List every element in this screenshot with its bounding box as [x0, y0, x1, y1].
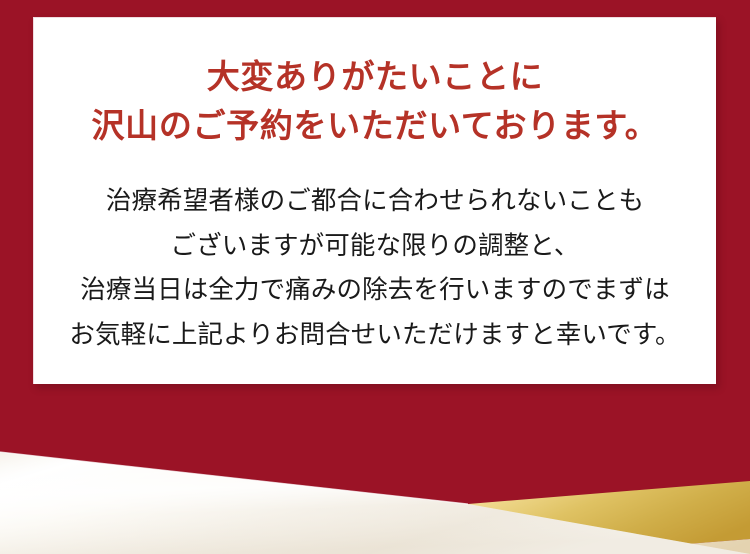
notice-heading: 大変ありがたいことに 沢山のご予約をいただいております。	[82, 18, 669, 152]
page-root: 大変ありがたいことに 沢山のご予約をいただいております。 治療希望者様のご都合に…	[0, 0, 750, 554]
bottom-decoration	[0, 434, 750, 554]
notice-card: 大変ありがたいことに 沢山のご予約をいただいております。 治療希望者様のご都合に…	[33, 17, 716, 384]
notice-body-text: 治療希望者様のご都合に合わせられないことも ございますが可能な限りの調整と、 治…	[59, 152, 690, 359]
bottom-decoration-svg	[0, 434, 750, 554]
